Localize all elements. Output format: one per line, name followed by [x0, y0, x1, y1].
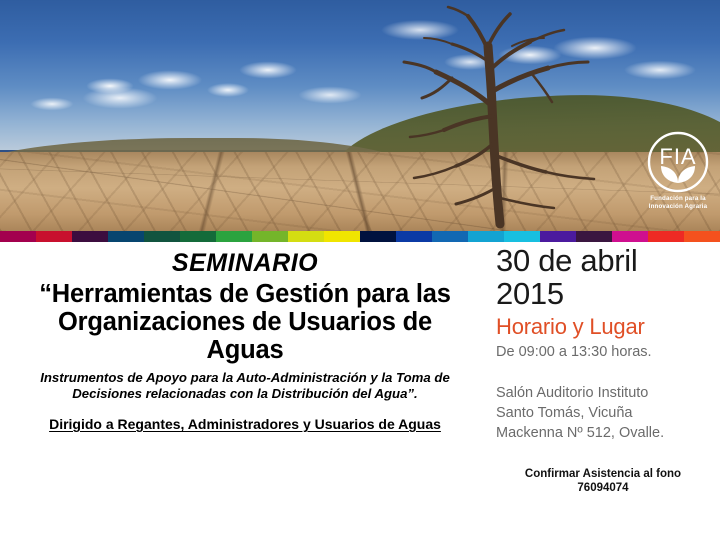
- stripe-7: [252, 231, 288, 242]
- stripe-8: [288, 231, 324, 242]
- stripe-1: [36, 231, 72, 242]
- stripe-13: [468, 231, 504, 242]
- stripe-18: [648, 231, 684, 242]
- stripe-10: [360, 231, 396, 242]
- confirmation-note: Confirmar Asistencia al fono 76094074: [496, 467, 710, 495]
- stripe-14: [504, 231, 540, 242]
- title-line-2: Organizaciones de Usuarios de: [10, 308, 480, 336]
- stripe-5: [180, 231, 216, 242]
- drought-landscape-photo: FIA Fundación para la Innovación Agraria: [0, 0, 720, 231]
- event-date-line-1: 30 de abril: [496, 244, 710, 277]
- stripe-2: [72, 231, 108, 242]
- stripe-16: [576, 231, 612, 242]
- address-line-3: Mackenna Nº 512, Ovalle.: [496, 423, 710, 443]
- audience-line: Dirigido a Regantes, Administradores y U…: [10, 416, 480, 433]
- confirmation-phone: 76094074: [496, 481, 710, 495]
- subtitle: Instrumentos de Apoyo para la Auto-Admin…: [10, 370, 480, 401]
- fia-logo-watermark: FIA Fundación para la Innovación Agraria: [643, 131, 713, 219]
- page-title: “Herramientas de Gestión para las Organi…: [10, 280, 480, 364]
- title-line-3: Aguas: [10, 336, 480, 364]
- section-label-horario-lugar: Horario y Lugar: [496, 313, 710, 340]
- fia-watermark-caption: Fundación para la Innovación Agraria: [643, 195, 713, 210]
- kicker-seminario: SEMINARIO: [10, 248, 480, 278]
- stripe-6: [216, 231, 252, 242]
- right-column: 30 de abril 2015 Horario y Lugar De 09:0…: [496, 244, 710, 495]
- stripe-4: [144, 231, 180, 242]
- seminar-poster: FIA Fundación para la Innovación Agraria…: [0, 0, 720, 540]
- stripe-15: [540, 231, 576, 242]
- fia-watermark-ring: FIA: [647, 131, 709, 193]
- stripe-9: [324, 231, 360, 242]
- fia-watermark-line2: Innovación Agraria: [643, 203, 713, 211]
- title-line-1: “Herramientas de Gestión para las: [10, 280, 480, 308]
- stripe-12: [432, 231, 468, 242]
- event-date-line-2: 2015: [496, 277, 710, 310]
- address-line-1: Salón Auditorio Instituto: [496, 383, 710, 403]
- address-line-2: Santo Tomás, Vicuña: [496, 403, 710, 423]
- left-column: SEMINARIO “Herramientas de Gestión para …: [10, 248, 480, 433]
- confirmation-line-1: Confirmar Asistencia al fono: [496, 467, 710, 481]
- svg-text:FIA: FIA: [659, 144, 696, 169]
- event-date: 30 de abril 2015: [496, 244, 710, 310]
- stripe-3: [108, 231, 144, 242]
- dead-tree: [392, 6, 632, 226]
- stripe-19: [684, 231, 720, 242]
- stripe-0: [0, 231, 36, 242]
- subtitle-line-1: Instrumentos de Apoyo para la Auto-Admin…: [36, 370, 454, 386]
- color-stripe-band: [0, 231, 720, 242]
- event-address: Salón Auditorio Instituto Santo Tomás, V…: [496, 383, 710, 443]
- subtitle-line-2: Decisiones relacionadas con la Distribuc…: [36, 386, 454, 402]
- fia-watermark-line1: Fundación para la: [643, 195, 713, 203]
- event-hours: De 09:00 a 13:30 horas.: [496, 343, 710, 362]
- stripe-11: [396, 231, 432, 242]
- poster-body: SEMINARIO “Herramientas de Gestión para …: [0, 242, 720, 540]
- stripe-17: [612, 231, 648, 242]
